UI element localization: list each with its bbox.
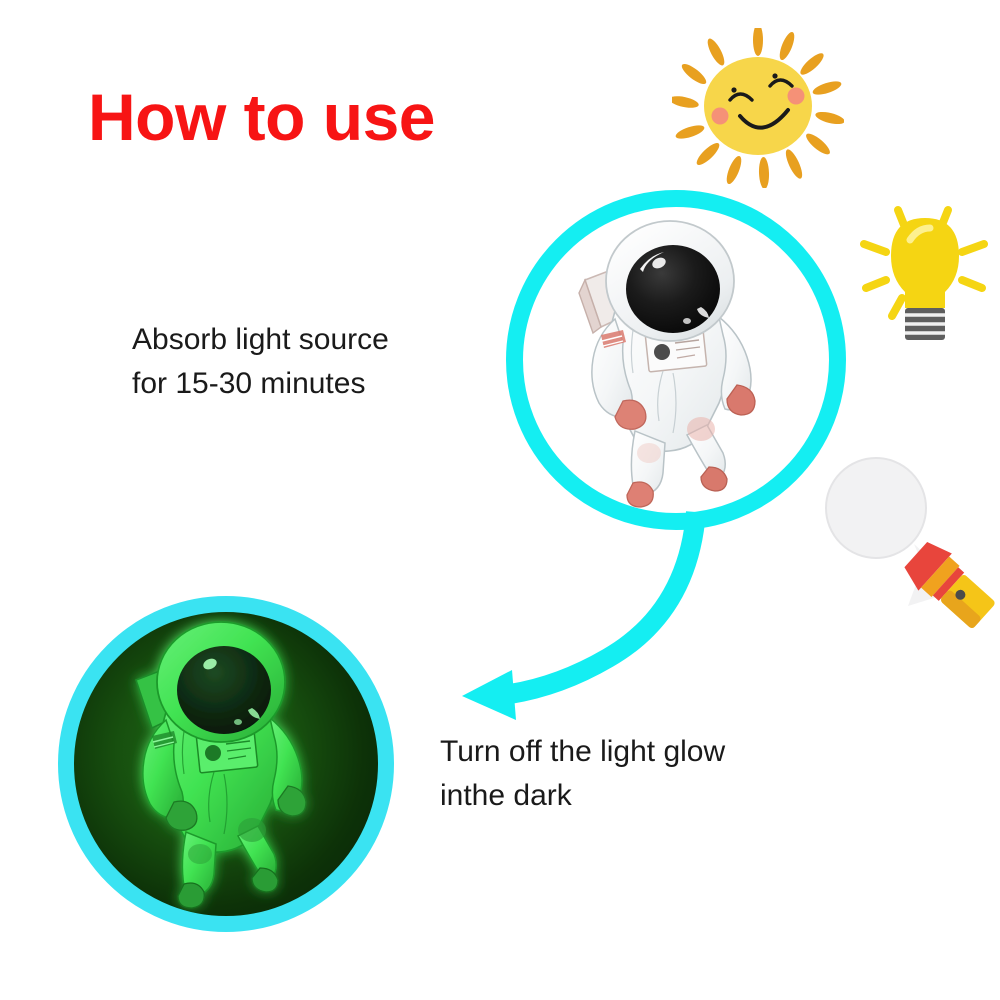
astronaut-daylight-illustration (523, 207, 829, 513)
flashlight-body (899, 536, 996, 628)
flashlight-icon (816, 456, 996, 628)
astronaut-glowing-illustration (74, 612, 378, 916)
astronaut-knee-pad-right (687, 417, 715, 441)
astronaut-visor (626, 245, 720, 333)
sun-icon (672, 28, 844, 188)
bulb-screw-base (905, 308, 945, 340)
sun-face (704, 57, 812, 155)
page-title: How to use (88, 84, 435, 150)
light-bulb-icon (852, 188, 998, 354)
caption-turn-off-light: Turn off the light glow inthe dark (440, 730, 725, 817)
photo-circle-daylight-inner (523, 207, 829, 513)
photo-circle-glow-in-dark (58, 596, 394, 932)
photo-circle-glow-inner (74, 612, 378, 916)
caption-absorb-light: Absorb light source for 15-30 minutes (132, 318, 389, 405)
astronaut-knee-pad-left (637, 443, 661, 463)
astronaut-helmet (606, 221, 734, 341)
flow-arrow-icon (400, 500, 720, 730)
glowing-astronaut-body (136, 622, 306, 908)
photo-circle-daylight (506, 190, 846, 530)
infographic-canvas: How to use Absorb light source for 15-30… (0, 0, 1000, 1000)
